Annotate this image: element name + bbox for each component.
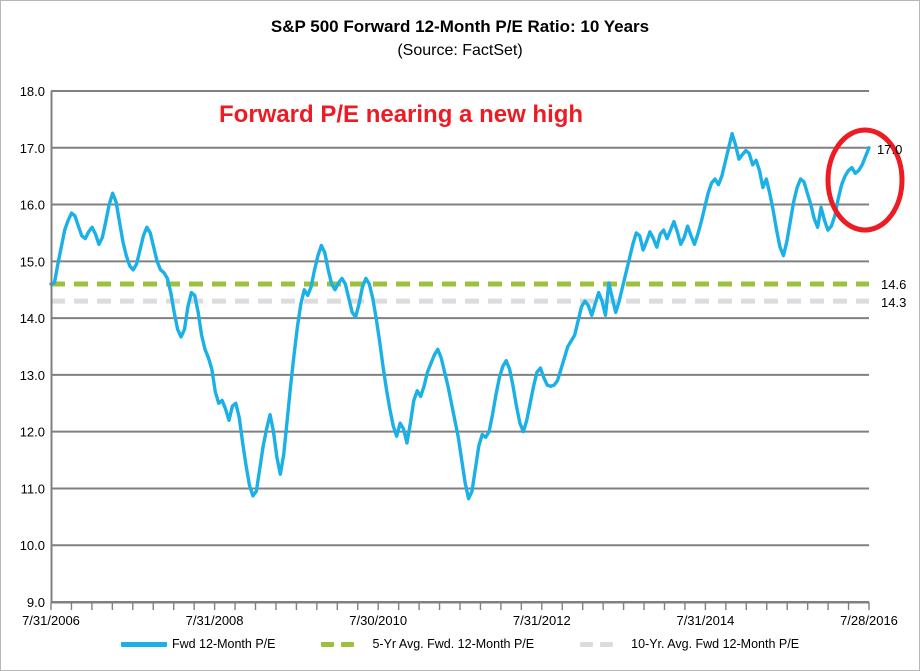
legend-label: Fwd 12-Month P/E	[172, 637, 276, 651]
legend-item[interactable]: Fwd 12-Month P/E	[121, 637, 276, 651]
x-tick-label: 7/31/2006	[22, 613, 80, 628]
chart-container: S&P 500 Forward 12-Month P/E Ratio: 10 Y…	[0, 0, 920, 671]
legend-item[interactable]: 5-Yr Avg. Fwd. 12-Month P/E	[321, 637, 534, 651]
legend-swatch-2	[580, 642, 626, 647]
avg-10yr-label: 14.3	[881, 295, 906, 310]
chart-plot: 18.017.016.015.014.013.012.011.010.09.0 …	[1, 1, 919, 670]
y-tick-label: 15.0	[20, 254, 45, 269]
legend-swatch-1	[321, 642, 367, 647]
y-tick-label: 18.0	[20, 84, 45, 99]
reference-lines	[51, 284, 869, 301]
y-axis-tick-labels: 18.017.016.015.014.013.012.011.010.09.0	[20, 84, 45, 610]
last-value-label: 17.0	[877, 142, 902, 157]
y-tick-label: 16.0	[20, 198, 45, 213]
x-tick-label: 7/31/2008	[186, 613, 244, 628]
legend-label: 10-Yr. Avg. Fwd 12-Month P/E	[631, 637, 799, 651]
avg-5yr-label: 14.6	[881, 277, 906, 292]
x-tick-label: 7/30/2010	[349, 613, 407, 628]
y-tick-label: 11.0	[21, 481, 45, 496]
y-tick-label: 17.0	[20, 141, 45, 156]
y-tick-label: 10.0	[20, 538, 45, 553]
legend-swatch-0	[121, 642, 167, 647]
y-tick-label: 13.0	[20, 368, 45, 383]
series-line-fwd-pe	[51, 134, 869, 499]
gridlines	[51, 91, 869, 602]
chart-legend: Fwd 12-Month P/E5-Yr Avg. Fwd. 12-Month …	[1, 637, 919, 651]
y-tick-label: 12.0	[20, 425, 45, 440]
y-tick-label: 9.0	[27, 595, 45, 610]
legend-item[interactable]: 10-Yr. Avg. Fwd 12-Month P/E	[580, 637, 799, 651]
x-tick-label: 7/31/2012	[513, 613, 571, 628]
legend-label: 5-Yr Avg. Fwd. 12-Month P/E	[372, 637, 534, 651]
x-axis-tick-labels: 7/31/20067/31/20087/30/20107/31/20127/31…	[22, 613, 898, 628]
x-tick-label: 7/28/2016	[840, 613, 898, 628]
x-tick-label: 7/31/2014	[676, 613, 734, 628]
y-tick-label: 14.0	[20, 311, 45, 326]
